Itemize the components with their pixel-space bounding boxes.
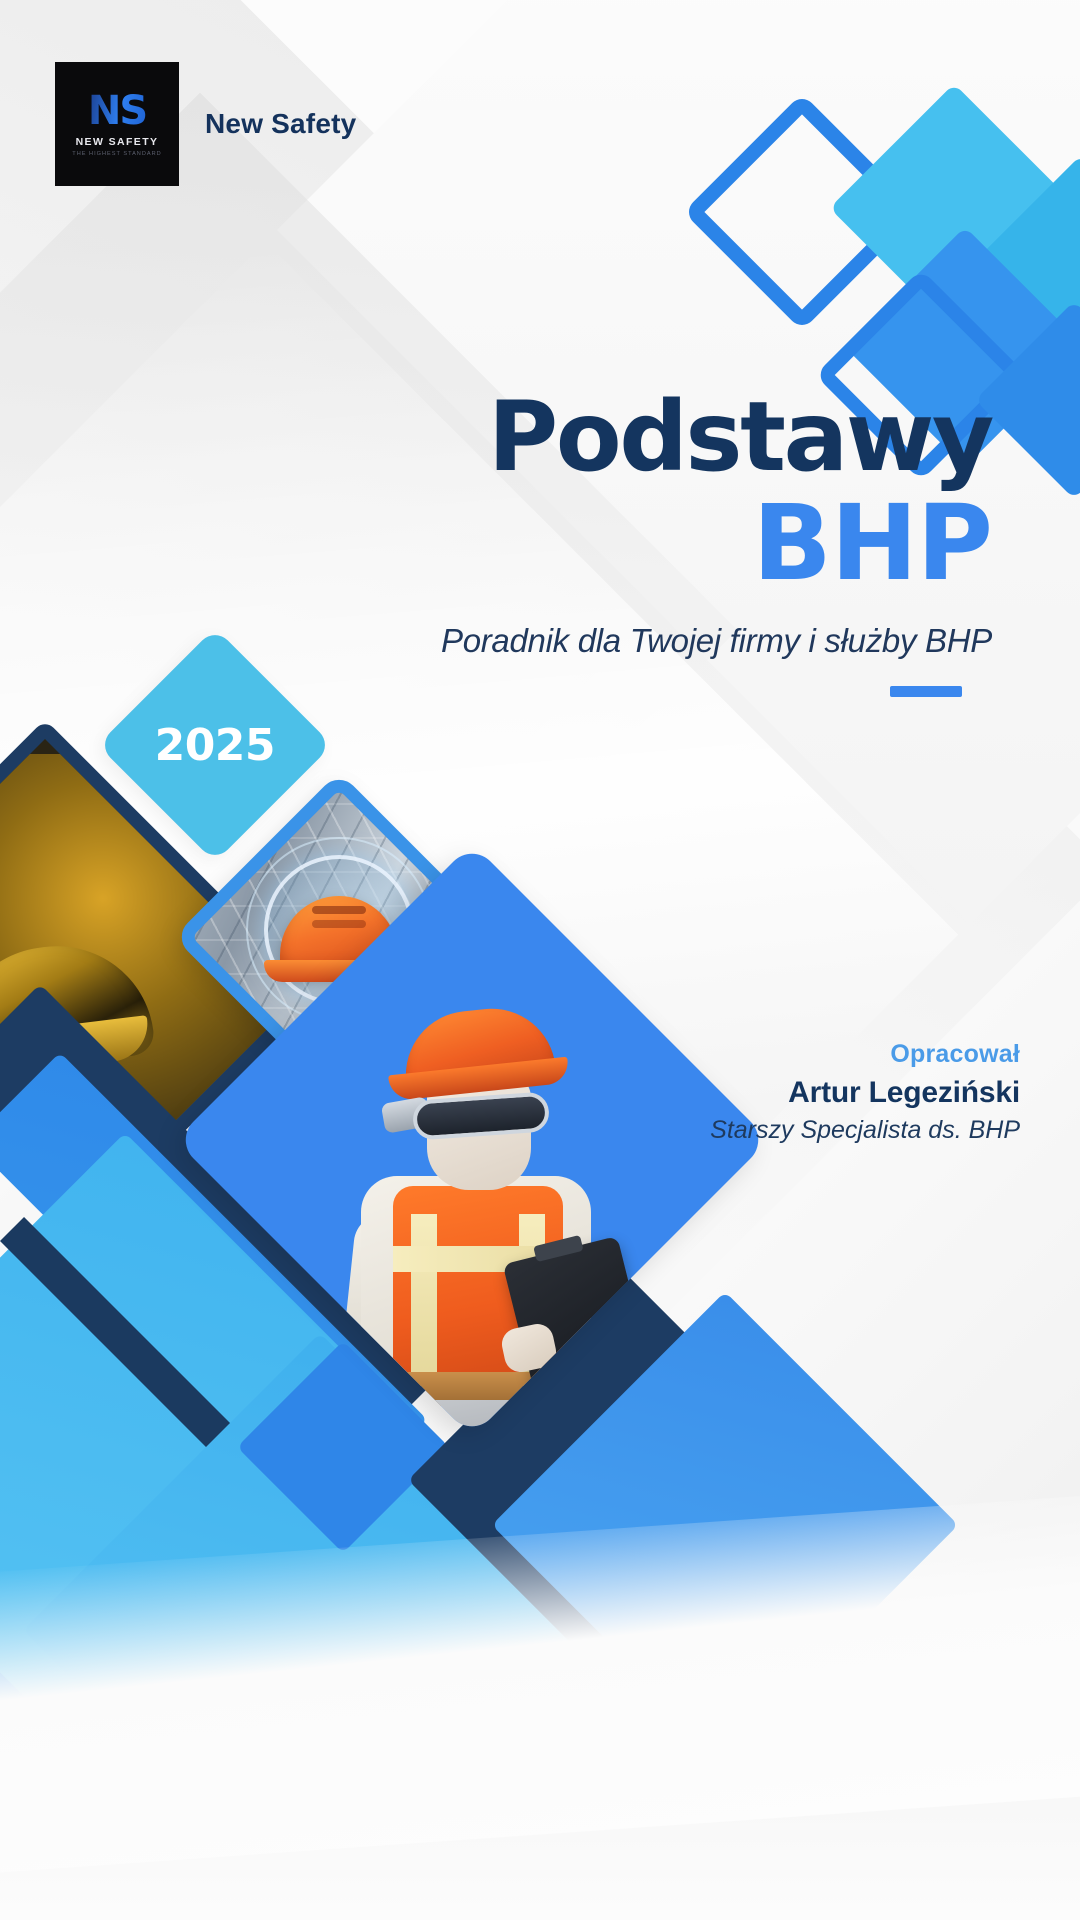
author-name: Artur Legeziński [710,1076,1020,1110]
title-block: Podstawy BHP Poradnik dla Twojej firmy i… [441,390,992,697]
brand-name: New Safety [205,108,356,140]
page-title-line2: BHP [441,490,992,596]
logo-company-name: NEW SAFETY [76,136,159,148]
logo-ns-icon: NS [88,91,146,131]
author-role: Starszy Specjalista ds. BHP [710,1116,1020,1145]
accent-rule [890,686,962,697]
author-label: Opracował [710,1040,1020,1069]
author-block: Opracował Artur Legeziński Starszy Specj… [710,1040,1020,1145]
brand-header: NS NEW SAFETY THE HIGHEST STANDARD New S… [55,62,356,186]
cover-page: NS NEW SAFETY THE HIGHEST STANDARD New S… [0,0,1080,1920]
logo-tagline: THE HIGHEST STANDARD [72,151,161,157]
logo-mark: NS NEW SAFETY THE HIGHEST STANDARD [55,62,179,186]
page-title-line1: Podstawy [441,390,992,484]
year-badge-label: 2025 [155,720,275,771]
page-subtitle: Poradnik dla Twojej firmy i służby BHP [441,622,992,660]
